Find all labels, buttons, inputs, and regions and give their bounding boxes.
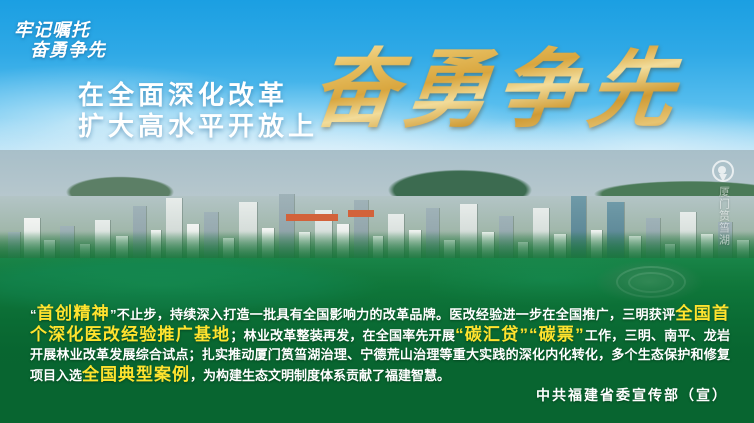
poster-subtitle: 在全面深化改革 扩大高水平开放上 <box>78 80 318 142</box>
highlight-chuangxin-jingshen: 首创精神 <box>37 304 111 323</box>
location-pin-icon <box>712 160 734 182</box>
subtitle-line-2: 扩大高水平开放上 <box>78 111 318 142</box>
publisher-signature: 中共福建省委宣传部（宣） <box>536 385 728 405</box>
logo-line-2: 奋勇争先 <box>30 40 134 60</box>
subtitle-line-1: 在全面深化改革 <box>78 80 318 111</box>
logo-line-1: 牢记嘱托 <box>14 20 134 40</box>
highlight-tanpiao: “碳票” <box>529 325 585 344</box>
highlight-tanhuidai: “碳汇贷” <box>455 325 529 344</box>
location-mark: 厦门筼筜湖 <box>706 160 740 251</box>
highlight-dianxing-anli: 全国典型案例 <box>82 365 190 384</box>
body-paragraph: “首创精神”不止步，持续深入打造一批具有全国影响力的改革品牌。医改经验进一步在全… <box>30 304 730 385</box>
body-seg-2: ”不止步，持续深入打造一批具有全国影响力的改革品牌。医改经验进一步在全国推广，三… <box>110 307 675 322</box>
mountain-ridge <box>0 150 754 196</box>
poster-root: 牢记嘱托 奋勇争先 在全面深化改革 扩大高水平开放上 奋勇争先 厦门筼筜湖 “首… <box>0 0 754 423</box>
location-label: 厦门筼筜湖 <box>717 186 730 246</box>
body-seg-3: ；林业改革整装再发，在全国率先开展 <box>230 328 455 343</box>
page-title: 奋勇争先 <box>307 42 685 138</box>
campaign-logo: 牢记嘱托 奋勇争先 <box>14 20 134 60</box>
body-seg-6: ，为构建生态文明制度体系贡献了福建智慧。 <box>190 368 450 383</box>
